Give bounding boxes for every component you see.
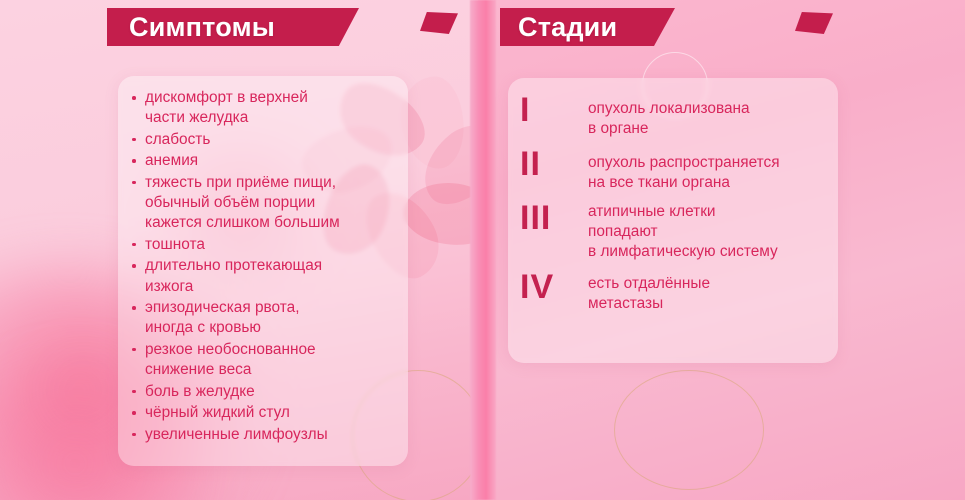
bullet-icon [132,425,145,437]
list-item: длительно протекающая изжога [132,256,400,297]
infographic-poster: Симптомы Стадии дискомфорт в верхней час… [0,0,965,500]
bullet-icon [132,340,145,352]
flower-petal [401,76,464,169]
list-item-label: тяжесть при приёме пищи, обычный объём п… [145,173,400,234]
bullet-icon [132,151,145,163]
header-stages-title: Стадии [518,12,617,43]
list-item: резкое необоснованное снижение веса [132,340,400,381]
stage-row: IVесть отдалённые метастазы [520,269,832,315]
bullet-icon [132,173,145,185]
bullet-icon [132,256,145,268]
stage-row: IIIатипичные клетки попадают в лимфатиче… [520,200,832,263]
stage-description: опухоль распространяется на все ткани ор… [588,146,832,194]
list-item-label: длительно протекающая изжога [145,256,400,297]
list-item: анемия [132,151,400,171]
list-item-label: боль в желудке [145,382,400,402]
bullet-icon [132,130,145,142]
thin-circle-gold-icon [614,370,764,490]
symptoms-list: дискомфорт в верхней части желудкаслабос… [132,88,400,446]
list-item-label: тошнота [145,235,400,255]
list-item-label: резкое необоснованное снижение веса [145,340,400,381]
flower-petal [399,174,478,254]
list-item: дискомфорт в верхней части желудка [132,88,400,129]
stage-numeral: II [520,146,588,182]
stage-description: есть отдалённые метастазы [588,269,832,315]
stage-row: Iопухоль локализована в органе [520,92,832,140]
stages-list: Iопухоль локализована в органеIIопухоль … [520,92,832,321]
stage-numeral: IV [520,269,588,305]
list-item: увеличенные лимфоузлы [132,425,400,445]
stage-row: IIопухоль распространяется на все ткани … [520,146,832,194]
list-item-label: слабость [145,130,400,150]
list-item-label: анемия [145,151,400,171]
bullet-icon [132,403,145,415]
list-item-label: эпизодическая рвота, иногда с кровью [145,298,400,339]
bullet-icon [132,88,145,100]
stage-description: атипичные клетки попадают в лимфатическу… [588,200,832,263]
stage-numeral: I [520,92,588,128]
bullet-icon [132,298,145,310]
stage-description: опухоль локализована в органе [588,92,832,140]
bullet-icon [132,235,145,247]
stage-numeral: III [520,200,588,236]
panel-divider [470,0,496,500]
header-stages: Стадии [500,8,675,46]
list-item-label: увеличенные лимфоузлы [145,425,400,445]
list-item-label: чёрный жидкий стул [145,403,400,423]
list-item: тошнота [132,235,400,255]
list-item-label: дискомфорт в верхней части желудка [145,88,400,129]
list-item: чёрный жидкий стул [132,403,400,423]
header-symptoms-title: Симптомы [129,12,275,43]
list-item: тяжесть при приёме пищи, обычный объём п… [132,173,400,234]
list-item: боль в желудке [132,382,400,402]
bullet-icon [132,382,145,394]
header-symptoms: Симптомы [107,8,359,46]
list-item: эпизодическая рвота, иногда с кровью [132,298,400,339]
flower-petal [408,111,478,217]
list-item: слабость [132,130,400,150]
